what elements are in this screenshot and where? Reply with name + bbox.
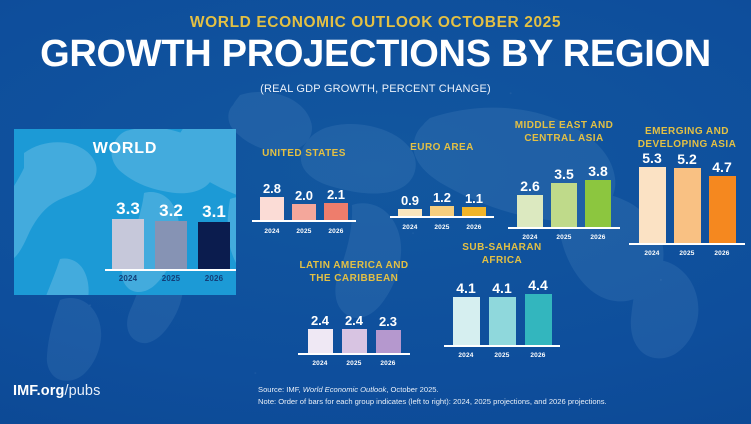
bar-emerging-and-developing-asia-2025: 5.2 bbox=[674, 152, 701, 243]
bar-rect bbox=[198, 222, 230, 269]
bar-chart-sub-saharan-africa: 4.14.14.4202420252026 bbox=[444, 267, 560, 359]
year-label-2024: 2024 bbox=[112, 274, 144, 283]
bar-value-label: 5.2 bbox=[677, 152, 696, 166]
imf-logo-light: /pubs bbox=[64, 383, 100, 399]
bar-rect bbox=[639, 167, 666, 243]
baseline bbox=[298, 353, 410, 355]
year-label-2026: 2026 bbox=[709, 250, 736, 257]
year-label-2026: 2026 bbox=[198, 274, 230, 283]
bar-latin-america-and-the-caribbean-2024: 2.4 bbox=[308, 314, 333, 353]
bars: 5.35.24.7 bbox=[629, 151, 745, 243]
bars: 2.42.42.3 bbox=[298, 314, 410, 353]
baseline bbox=[444, 345, 560, 347]
bars: 2.63.53.8 bbox=[508, 164, 620, 227]
bar-value-label: 1.1 bbox=[465, 192, 483, 205]
bar-value-label: 3.2 bbox=[159, 202, 183, 219]
bar-rect bbox=[155, 221, 187, 269]
bar-value-label: 2.1 bbox=[327, 188, 345, 201]
bar-rect bbox=[292, 204, 316, 221]
imf-logo-bold: IMF.org bbox=[13, 383, 64, 399]
world-baseline bbox=[105, 269, 236, 271]
infographic-poster: WORLD ECONOMIC OUTLOOK OCTOBER 2025 GROW… bbox=[0, 0, 751, 424]
group-label-united-states: UNITED STATES bbox=[252, 148, 356, 161]
bar-rect bbox=[489, 297, 516, 345]
bar-middle-east-and-central-asia-2025: 3.5 bbox=[551, 167, 577, 227]
bar-chart-middle-east-and-central-asia: 2.63.53.8202420252026 bbox=[508, 145, 620, 241]
bar-value-label: 2.6 bbox=[520, 179, 539, 193]
bar-emerging-and-developing-asia-2026: 4.7 bbox=[709, 160, 736, 243]
bar-world-2026: 3.1 bbox=[198, 203, 230, 269]
group-united-states: UNITED STATES2.82.02.1202420252026 bbox=[252, 148, 356, 235]
bar-value-label: 3.1 bbox=[202, 203, 226, 220]
bar-latin-america-and-the-caribbean-2026: 2.3 bbox=[376, 315, 401, 353]
bar-value-label: 3.8 bbox=[588, 164, 607, 178]
source-publication: World Economic Outlook bbox=[303, 385, 387, 394]
group-label-sub-saharan-africa: SUB-SAHARAN AFRICA bbox=[444, 242, 560, 267]
bar-world-2025: 3.2 bbox=[155, 202, 187, 269]
bar-emerging-and-developing-asia-2024: 5.3 bbox=[639, 151, 666, 243]
subtitle: (REAL GDP GROWTH, PERCENT CHANGE) bbox=[0, 83, 751, 95]
year-label-2025: 2025 bbox=[292, 228, 316, 235]
world-group-label: WORLD bbox=[14, 140, 236, 158]
bar-chart-united-states: 2.82.02.1202420252026 bbox=[252, 161, 356, 235]
bar-latin-america-and-the-caribbean-2025: 2.4 bbox=[342, 314, 367, 353]
year-label-2026: 2026 bbox=[462, 224, 486, 231]
year-label-2025: 2025 bbox=[342, 360, 367, 367]
source-prefix: Source: IMF, bbox=[258, 385, 303, 394]
year-label-2025: 2025 bbox=[489, 352, 516, 359]
bar-rect bbox=[260, 197, 284, 220]
bar-value-label: 3.3 bbox=[116, 200, 140, 217]
bar-rect bbox=[376, 330, 401, 353]
bar-rect bbox=[430, 206, 454, 216]
bar-rect bbox=[709, 176, 736, 243]
bar-value-label: 4.7 bbox=[712, 160, 731, 174]
year-label-2025: 2025 bbox=[551, 234, 577, 241]
bar-value-label: 2.4 bbox=[345, 314, 363, 327]
bar-rect bbox=[674, 168, 701, 243]
source-suffix: , October 2025. bbox=[386, 385, 438, 394]
year-label-2024: 2024 bbox=[398, 224, 422, 231]
bar-sub-saharan-africa-2024: 4.1 bbox=[453, 281, 480, 345]
bar-value-label: 2.0 bbox=[295, 189, 313, 202]
bar-world-2024: 3.3 bbox=[112, 200, 144, 269]
bar-rect bbox=[551, 183, 577, 227]
group-latin-america-and-the-caribbean: LATIN AMERICA AND THE CARIBBEAN2.42.42.3… bbox=[298, 260, 410, 367]
year-label-2024: 2024 bbox=[260, 228, 284, 235]
bar-rect bbox=[324, 203, 348, 220]
kicker-text: WORLD ECONOMIC OUTLOOK OCTOBER 2025 bbox=[0, 14, 751, 32]
year-labels: 202420252026 bbox=[508, 234, 620, 241]
source-line: Source: IMF, World Economic Outlook, Oct… bbox=[258, 384, 728, 396]
year-label-2026: 2026 bbox=[525, 352, 552, 359]
page-title: GROWTH PROJECTIONS BY REGION bbox=[0, 33, 751, 76]
bar-value-label: 2.8 bbox=[263, 182, 281, 195]
group-sub-saharan-africa: SUB-SAHARAN AFRICA4.14.14.4202420252026 bbox=[444, 242, 560, 359]
year-label-2025: 2025 bbox=[674, 250, 701, 257]
bar-value-label: 3.5 bbox=[554, 167, 573, 181]
bars: 2.82.02.1 bbox=[252, 182, 356, 220]
bar-rect bbox=[525, 294, 552, 345]
year-label-2026: 2026 bbox=[324, 228, 348, 235]
bar-value-label: 1.2 bbox=[433, 191, 451, 204]
group-label-emerging-and-developing-asia: EMERGING AND DEVELOPING ASIA bbox=[629, 126, 745, 151]
group-label-middle-east-and-central-asia: MIDDLE EAST AND CENTRAL ASIA bbox=[508, 120, 620, 145]
bar-sub-saharan-africa-2025: 4.1 bbox=[489, 281, 516, 345]
year-label-2024: 2024 bbox=[453, 352, 480, 359]
baseline bbox=[629, 243, 745, 245]
bar-value-label: 0.9 bbox=[401, 194, 419, 207]
year-label-2024: 2024 bbox=[639, 250, 666, 257]
year-labels: 202420252026 bbox=[629, 250, 745, 257]
baseline bbox=[390, 216, 494, 218]
group-emerging-and-developing-asia: EMERGING AND DEVELOPING ASIA5.35.24.7202… bbox=[629, 126, 745, 257]
bar-united-states-2025: 2.0 bbox=[292, 189, 316, 221]
bar-rect bbox=[342, 329, 367, 353]
bar-rect bbox=[585, 180, 611, 227]
baseline bbox=[508, 227, 620, 229]
year-label-2024: 2024 bbox=[308, 360, 333, 367]
bar-united-states-2024: 2.8 bbox=[260, 182, 284, 220]
year-labels: 202420252026 bbox=[390, 224, 494, 231]
bar-euro-area-2025: 1.2 bbox=[430, 191, 454, 216]
bar-euro-area-2026: 1.1 bbox=[462, 192, 486, 217]
group-euro-area: EURO AREA0.91.21.1202420252026 bbox=[390, 142, 494, 231]
world-bar-chart: 3.33.23.1 202420252026 bbox=[105, 173, 236, 283]
bar-value-label: 2.3 bbox=[379, 315, 397, 328]
note-line: Note: Order of bars for each group indic… bbox=[258, 396, 728, 408]
bar-value-label: 2.4 bbox=[311, 314, 329, 327]
world-year-labels: 202420252026 bbox=[105, 274, 236, 283]
bars: 0.91.21.1 bbox=[390, 191, 494, 216]
group-middle-east-and-central-asia: MIDDLE EAST AND CENTRAL ASIA2.63.53.8202… bbox=[508, 120, 620, 241]
imf-logo[interactable]: IMF.org/pubs bbox=[13, 383, 100, 399]
bar-chart-euro-area: 0.91.21.1202420252026 bbox=[390, 155, 494, 231]
bars: 4.14.14.4 bbox=[444, 278, 560, 345]
group-label-euro-area: EURO AREA bbox=[390, 142, 494, 155]
baseline bbox=[252, 220, 356, 222]
world-bars: 3.33.23.1 bbox=[105, 200, 236, 269]
bar-united-states-2026: 2.1 bbox=[324, 188, 348, 220]
bar-rect bbox=[308, 329, 333, 353]
bar-chart-latin-america-and-the-caribbean: 2.42.42.3202420252026 bbox=[298, 285, 410, 367]
year-labels: 202420252026 bbox=[252, 228, 356, 235]
bar-rect bbox=[517, 195, 543, 227]
bar-rect bbox=[112, 219, 144, 269]
bar-middle-east-and-central-asia-2024: 2.6 bbox=[517, 179, 543, 227]
footnotes: Source: IMF, World Economic Outlook, Oct… bbox=[258, 384, 728, 407]
bar-euro-area-2024: 0.9 bbox=[398, 194, 422, 217]
bar-value-label: 4.1 bbox=[492, 281, 511, 295]
bar-sub-saharan-africa-2026: 4.4 bbox=[525, 278, 552, 345]
bar-value-label: 5.3 bbox=[642, 151, 661, 165]
year-labels: 202420252026 bbox=[298, 360, 410, 367]
year-label-2024: 2024 bbox=[517, 234, 543, 241]
bar-rect bbox=[453, 297, 480, 345]
year-label-2026: 2026 bbox=[376, 360, 401, 367]
year-label-2025: 2025 bbox=[155, 274, 187, 283]
bar-chart-emerging-and-developing-asia: 5.35.24.7202420252026 bbox=[629, 151, 745, 257]
group-label-latin-america-and-the-caribbean: LATIN AMERICA AND THE CARIBBEAN bbox=[298, 260, 410, 285]
bar-value-label: 4.4 bbox=[528, 278, 547, 292]
year-label-2026: 2026 bbox=[585, 234, 611, 241]
bar-value-label: 4.1 bbox=[456, 281, 475, 295]
year-label-2025: 2025 bbox=[430, 224, 454, 231]
world-panel: WORLD 3.33.23.1 202420252026 bbox=[14, 129, 236, 295]
bar-middle-east-and-central-asia-2026: 3.8 bbox=[585, 164, 611, 227]
year-labels: 202420252026 bbox=[444, 352, 560, 359]
